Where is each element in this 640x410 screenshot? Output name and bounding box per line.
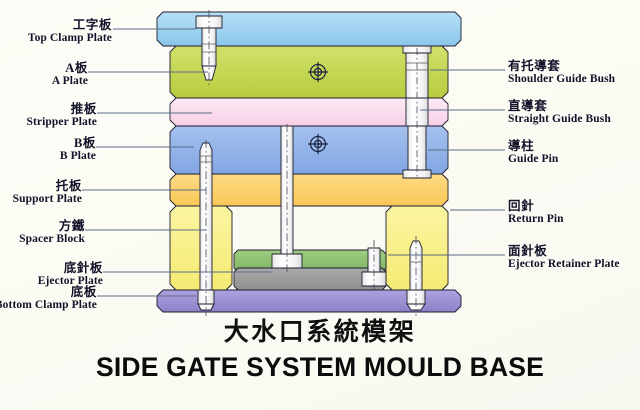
label-en: Top Clamp Plate [28,32,112,45]
label-cn: 底針板 [38,261,103,275]
label-en: Shoulder Guide Bush [508,73,615,86]
label-en: Straight Guide Bush [508,113,611,126]
label-ejector-plate: 底針板 Ejector Plate [38,261,103,288]
diagram-root: 工字板 Top Clamp Plate A板 A Plate 推板 Stripp… [0,0,640,410]
label-b-plate: B板 B Plate [60,136,96,163]
title-en: SIDE GATE SYSTEM MOULD BASE [0,352,640,383]
label-return-pin: 回針 Return Pin [508,199,564,226]
left-ejector-pin [198,140,214,316]
label-ejector-retainer-plate: 面針板 Ejector Retainer Plate [508,244,620,271]
label-en: Support Plate [13,193,82,206]
label-cn: 推板 [27,102,98,116]
label-en: Stripper Plate [27,116,98,129]
label-cn: 底板 [0,285,97,299]
label-top-clamp-plate: 工字板 Top Clamp Plate [28,18,112,45]
label-cn: 方鐵 [19,219,85,233]
title-cn: 大水口系統模架 [0,312,640,348]
label-guide-pin: 導柱 Guide Pin [508,139,558,166]
label-en: B Plate [60,150,96,163]
label-shoulder-guide-bush: 有托導套 Shoulder Guide Bush [508,59,615,86]
label-stripper-plate: 推板 Stripper Plate [27,102,98,129]
label-cn: 托板 [13,179,82,193]
label-cn: 回針 [508,199,564,213]
label-en: Guide Pin [508,153,558,166]
label-cn: A板 [52,61,88,75]
label-cn: B板 [60,136,96,150]
label-en: Ejector Retainer Plate [508,258,620,271]
diagram-title: 大水口系統模架 SIDE GATE SYSTEM MOULD BASE [0,312,640,383]
label-cn: 有托導套 [508,59,615,73]
label-en: Spacer Block [19,233,85,246]
label-cn: 直導套 [508,99,611,113]
label-cn: 工字板 [28,18,112,32]
label-support-plate: 托板 Support Plate [13,179,82,206]
label-spacer-block: 方鐵 Spacer Block [19,219,85,246]
label-bottom-clamp-plate: 底板 Bottom Clamp Plate [0,285,97,312]
label-a-plate: A板 A Plate [52,61,88,88]
label-en: Return Pin [508,213,564,226]
label-en: A Plate [52,75,88,88]
label-en: Bottom Clamp Plate [0,299,97,312]
label-cn: 面針板 [508,244,620,258]
label-cn: 導柱 [508,139,558,153]
label-straight-guide-bush: 直導套 Straight Guide Bush [508,99,611,126]
return-pin [407,236,425,316]
